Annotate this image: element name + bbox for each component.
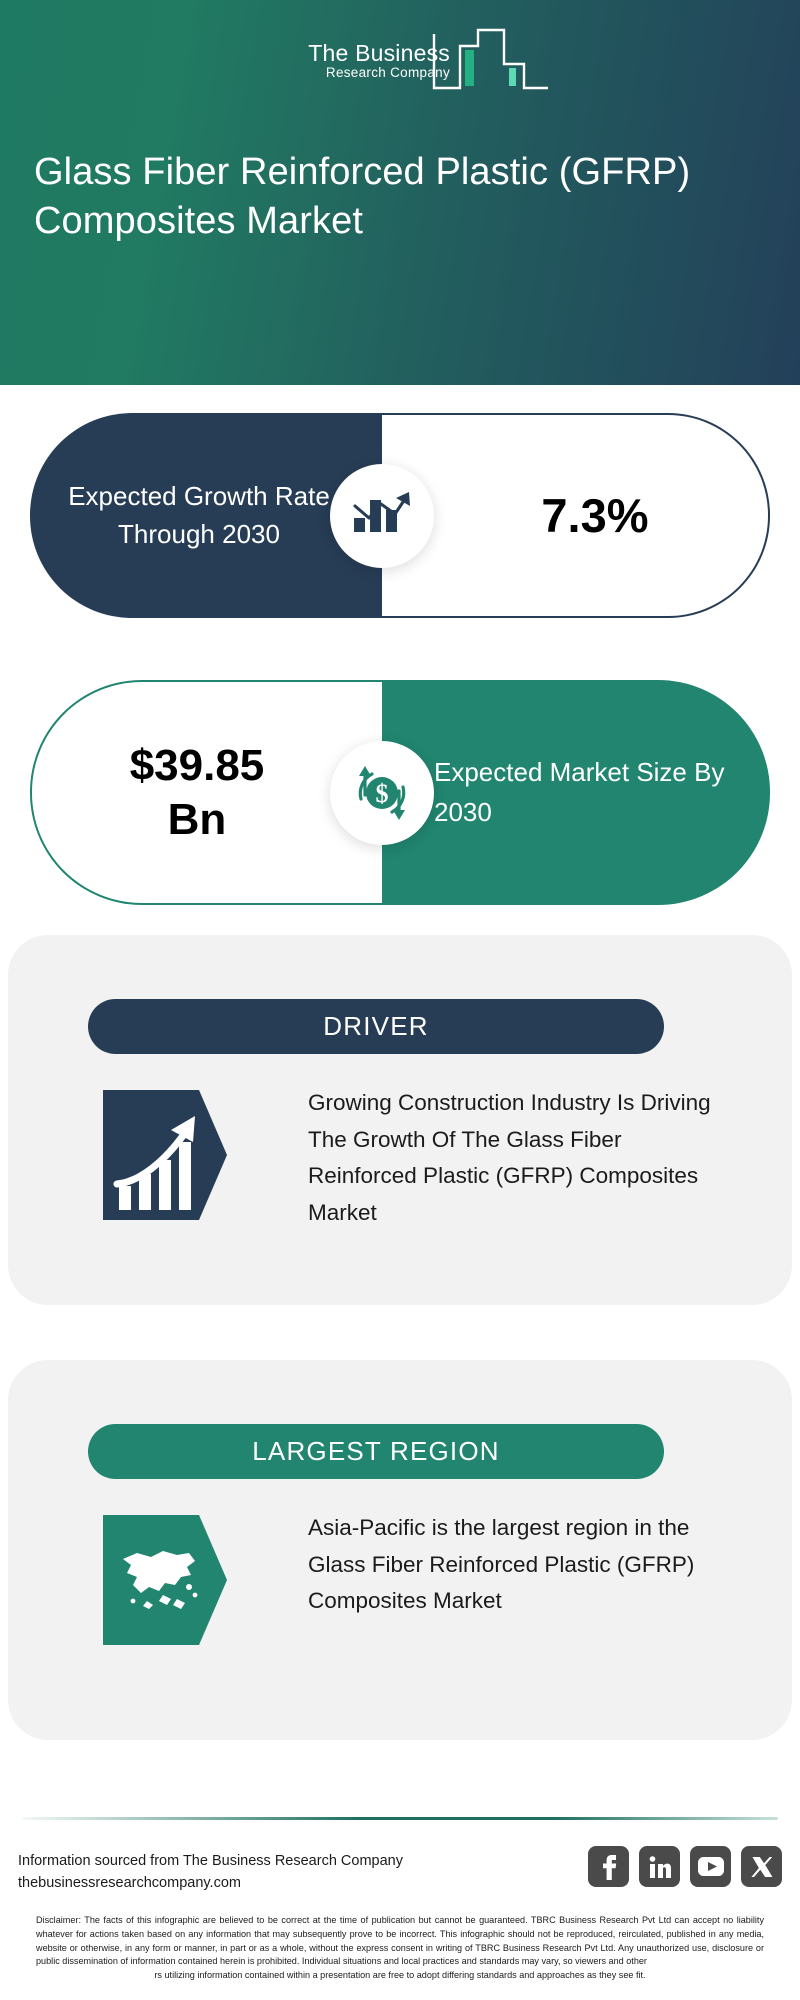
driver-pill: DRIVER [88, 999, 664, 1054]
disclaimer-main: Disclaimer: The facts of this infographi… [36, 1915, 764, 1966]
largest-region-pill: LARGEST REGION [88, 1424, 664, 1479]
driver-body-text: Growing Construction Industry Is Driving… [308, 1085, 728, 1232]
company-logo: The Business Research Company [0, 22, 800, 94]
infographic-page: The Business Research Company Glass Fibe… [0, 0, 800, 2000]
source-line-1: Information sourced from The Business Re… [18, 1850, 403, 1872]
panel-largest-region: LARGEST REGION Asia-Pacific is the large… [8, 1360, 792, 1740]
header-banner: The Business Research Company Glass Fibe… [0, 0, 800, 385]
asia-map-icon [103, 1515, 227, 1645]
growth-chart-arrow-icon [330, 464, 434, 568]
svg-text:$: $ [376, 779, 389, 808]
social-links [588, 1846, 782, 1887]
logo-line-2: Research Company [250, 66, 450, 80]
stat-size-value-line-2: Bn [168, 795, 227, 844]
stat-size-value-line-1: $39.85 [130, 741, 265, 790]
page-title: Glass Fiber Reinforced Plastic (GFRP) Co… [34, 148, 766, 245]
source-attribution: Information sourced from The Business Re… [18, 1850, 403, 1895]
footer-divider [22, 1817, 778, 1820]
driver-pill-label: DRIVER [323, 1011, 428, 1042]
disclaimer-last-line: rs utilizing information contained withi… [36, 1969, 764, 1983]
stat-growth-value-block: 7.3% [382, 413, 770, 618]
largest-region-body-text: Asia-Pacific is the largest region in th… [308, 1510, 728, 1620]
logo-wordmark: The Business Research Company [250, 42, 450, 80]
stat-size-label-block: Expected Market Size By 2030 [382, 680, 770, 905]
bar-chart-logo-icon [432, 22, 550, 94]
disclaimer-text: Disclaimer: The facts of this infographi… [36, 1914, 764, 1983]
largest-region-pill-label: LARGEST REGION [252, 1436, 500, 1467]
stat-card-growth-rate: Expected Growth Rate Through 2030 7.3% [30, 413, 770, 618]
bar-chart-growth-arrow-icon [103, 1090, 227, 1220]
youtube-icon[interactable] [690, 1846, 731, 1887]
panel-driver: DRIVER Growing Construction Industry Is … [8, 935, 792, 1305]
stat-size-label: Expected Market Size By 2030 [382, 753, 770, 832]
stat-growth-value: 7.3% [501, 488, 648, 543]
dollar-exchange-icon: $ [330, 741, 434, 845]
logo-line-1: The Business [250, 42, 450, 65]
x-twitter-icon[interactable] [741, 1846, 782, 1887]
stat-size-value: $39.85 Bn [108, 739, 307, 846]
source-link[interactable]: thebusinessresearchcompany.com [18, 1872, 403, 1894]
linkedin-icon[interactable] [639, 1846, 680, 1887]
stat-card-market-size: $39.85 Bn Expected Market Size By 2030 $ [30, 680, 770, 905]
facebook-icon[interactable] [588, 1846, 629, 1887]
